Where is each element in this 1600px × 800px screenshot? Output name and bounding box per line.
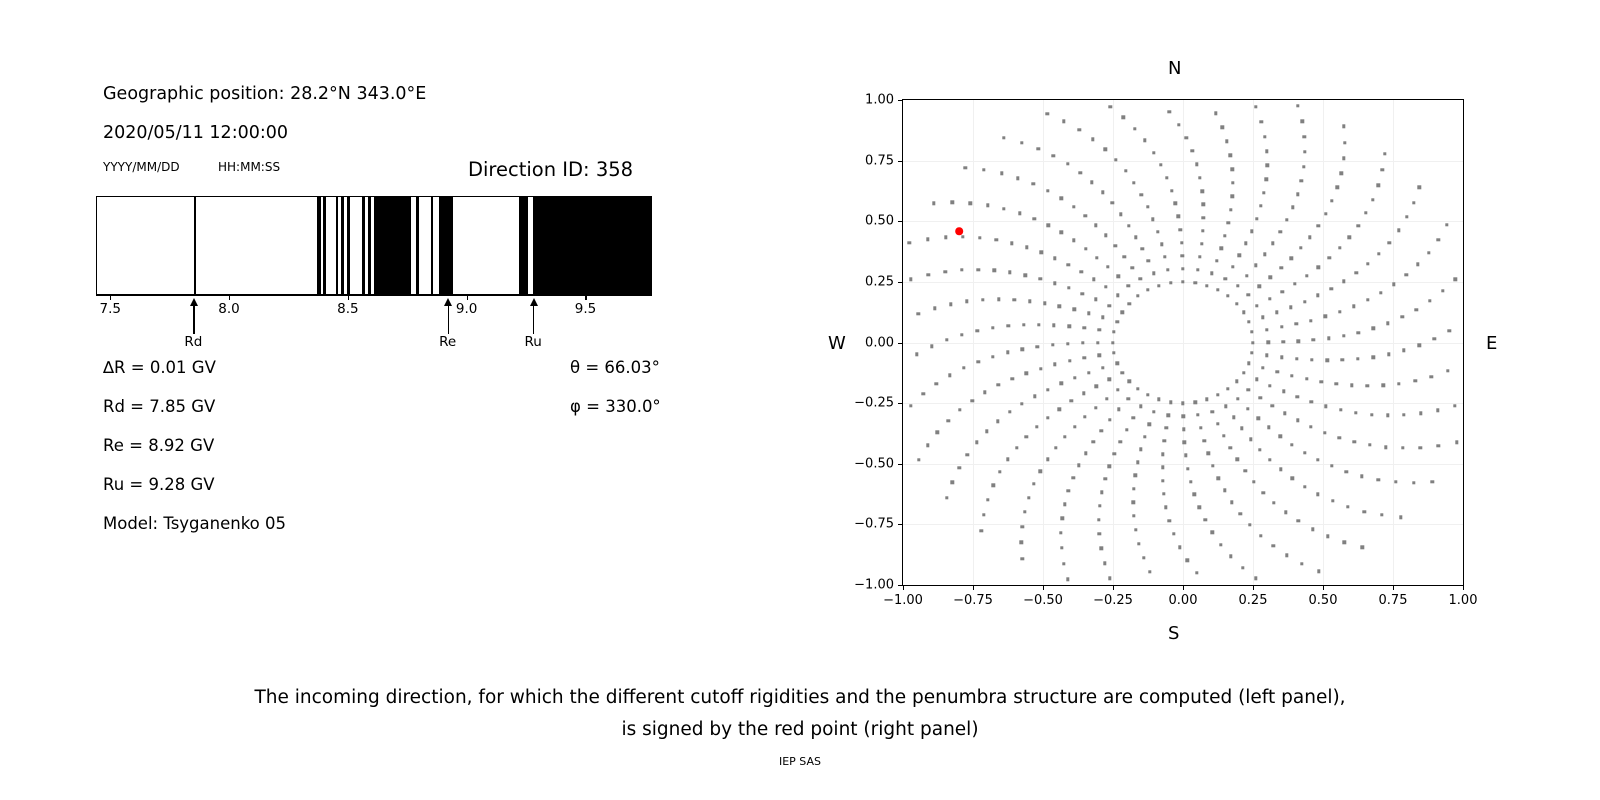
direction-point [1032, 182, 1035, 185]
direction-point [1202, 216, 1205, 219]
direction-point [1211, 464, 1214, 467]
direction-point [1232, 416, 1235, 419]
penumbra-band [341, 197, 344, 294]
direction-point [1285, 553, 1288, 556]
direction-point [1186, 559, 1189, 562]
direction-point [1271, 544, 1274, 547]
direction-point [1302, 165, 1305, 168]
direction-point [1247, 320, 1250, 323]
scatter-x-tick-label: 0.00 [1169, 593, 1198, 608]
direction-point [1137, 542, 1140, 545]
direction-point [1108, 304, 1111, 307]
direction-point [1418, 343, 1421, 346]
direction-point [1290, 443, 1293, 446]
direction-point [1101, 316, 1104, 319]
direction-point [1147, 259, 1150, 262]
direction-point [1068, 359, 1071, 362]
direction-point [1325, 359, 1328, 362]
angle-line: θ = 66.03° [570, 358, 660, 377]
scatter-y-tick [898, 282, 902, 283]
direction-point [1104, 285, 1107, 288]
direction-point [1412, 201, 1415, 204]
direction-point [1116, 362, 1119, 365]
direction-point [1152, 272, 1155, 275]
direction-point [1053, 281, 1056, 284]
scatter-x-tick-label: 0.25 [1239, 593, 1268, 608]
direction-point [1164, 426, 1167, 429]
direction-point [1118, 440, 1121, 443]
direction-point [1254, 263, 1257, 266]
direction-point [1067, 263, 1070, 266]
direction-point [921, 392, 924, 395]
direction-point [1202, 203, 1205, 206]
direction-point [1117, 408, 1120, 411]
direction-point [1317, 569, 1320, 572]
direction-point [1279, 435, 1282, 438]
direction-point [1015, 446, 1018, 449]
direction-point [1446, 369, 1449, 372]
direction-point [1364, 211, 1367, 214]
direction-point [1267, 426, 1270, 429]
direction-point [1221, 126, 1224, 129]
direction-point [1000, 172, 1003, 175]
direction-point [996, 420, 999, 423]
direction-point [1002, 136, 1005, 139]
direction-point [981, 298, 984, 301]
direction-point [1166, 268, 1169, 271]
direction-point [1134, 528, 1137, 531]
direction-point [1146, 288, 1149, 291]
direction-point [1384, 445, 1387, 448]
direction-point [1261, 315, 1264, 318]
direction-point [1116, 388, 1119, 391]
direction-point [1241, 566, 1244, 569]
direction-point [1072, 308, 1075, 311]
direction-point [1078, 128, 1081, 131]
direction-point [1401, 446, 1404, 449]
direction-point [1098, 532, 1101, 535]
direction-point [1021, 347, 1024, 350]
rigidity-tick-label: 9.5 [575, 301, 596, 317]
direction-point [1290, 374, 1293, 377]
direction-point [1025, 372, 1028, 375]
direction-point [1366, 298, 1369, 301]
direction-point [1229, 208, 1232, 211]
direction-point [1063, 503, 1066, 506]
direction-point [1066, 578, 1069, 581]
direction-point [1259, 534, 1262, 537]
scatter-y-tick-label: 0.25 [844, 274, 894, 289]
direction-point [1193, 281, 1196, 284]
direction-point [1204, 518, 1207, 521]
direction-point [1032, 482, 1035, 485]
direction-point [1103, 561, 1106, 564]
direction-point [1128, 380, 1131, 383]
direction-point [1262, 491, 1265, 494]
direction-point [1303, 300, 1306, 303]
direction-point [1067, 325, 1070, 328]
scatter-y-tick [898, 221, 902, 222]
direction-point [1335, 382, 1338, 385]
direction-point [1246, 407, 1249, 410]
rigidity-tick [229, 295, 230, 300]
direction-point [1052, 154, 1055, 157]
direction-point [1058, 304, 1061, 307]
direction-point [1372, 327, 1375, 330]
direction-point [975, 441, 978, 444]
arrow-stem [193, 305, 194, 334]
direction-point [1114, 244, 1117, 247]
scatter-x-tick [973, 586, 974, 590]
direction-point [1320, 380, 1323, 383]
direction-point [1136, 461, 1139, 464]
direction-point [1151, 217, 1154, 220]
direction-point [982, 513, 985, 516]
direction-point [1100, 429, 1103, 432]
direction-point [1071, 476, 1074, 479]
direction-point [1025, 435, 1028, 438]
direction-point [1327, 337, 1330, 340]
rigidity-tick [110, 295, 111, 300]
direction-point [1139, 405, 1142, 408]
direction-point [1060, 197, 1063, 200]
direction-point [932, 202, 935, 205]
geographic-position-text: Geographic position: 28.2°N 343.0°E [103, 84, 426, 104]
direction-point [1084, 247, 1087, 250]
direction-point [1170, 189, 1173, 192]
direction-point [1108, 576, 1111, 579]
direction-point [991, 326, 994, 329]
direction-point [1148, 570, 1151, 573]
direction-point [1247, 362, 1250, 365]
direction-point [1244, 242, 1247, 245]
direction-point [985, 430, 988, 433]
direction-point [986, 204, 989, 207]
direction-point [1164, 506, 1167, 509]
direction-point [977, 268, 980, 271]
direction-point [1047, 224, 1050, 227]
direction-point [1127, 224, 1130, 227]
direction-point [1217, 477, 1220, 480]
direction-point [1243, 469, 1246, 472]
direction-point [1110, 201, 1113, 204]
direction-point [1342, 334, 1345, 337]
direction-point [1136, 294, 1139, 297]
direction-point [1381, 383, 1384, 386]
direction-point [1169, 281, 1172, 284]
direction-point [1268, 458, 1271, 461]
direction-point [1291, 206, 1294, 209]
direction-point [1010, 241, 1013, 244]
credit-label: IEP SAS [0, 755, 1600, 768]
direction-point [1330, 287, 1333, 290]
scatter-plot-area [902, 99, 1464, 586]
direction-point [1060, 546, 1063, 549]
direction-point [1036, 147, 1039, 150]
direction-point [1226, 387, 1229, 390]
direction-point [1060, 382, 1063, 385]
direction-point [1297, 340, 1300, 343]
direction-point [947, 419, 950, 422]
direction-point [1108, 378, 1111, 381]
direction-point [944, 270, 947, 273]
selected-direction-point[interactable] [955, 227, 963, 235]
scatter-y-tick-label: −0.75 [844, 517, 894, 532]
direction-point [1379, 291, 1382, 294]
direction-point [1020, 557, 1023, 560]
direction-point [1356, 357, 1359, 360]
direction-point [1248, 523, 1251, 526]
direction-point [1189, 480, 1192, 483]
direction-point [1293, 282, 1296, 285]
direction-point [1124, 169, 1127, 172]
direction-point [1346, 505, 1349, 508]
direction-point [1195, 163, 1198, 166]
direction-point [1073, 376, 1076, 379]
direction-point [1132, 487, 1135, 490]
direction-point [1235, 302, 1238, 305]
direction-point [945, 496, 948, 499]
direction-point [1271, 404, 1274, 407]
direction-point [1380, 513, 1383, 516]
direction-point [965, 300, 968, 303]
direction-point [1136, 387, 1139, 390]
direction-point [1025, 246, 1028, 249]
direction-point [1264, 178, 1267, 181]
direction-point [1345, 470, 1348, 473]
direction-point [1265, 328, 1268, 331]
direction-point [1094, 298, 1097, 301]
direction-point [1296, 395, 1299, 398]
direction-point [1269, 276, 1272, 279]
direction-point [1094, 224, 1097, 227]
direction-point [1254, 105, 1257, 108]
direction-point [1339, 408, 1342, 411]
compass-north-label: N [1168, 58, 1181, 79]
direction-point [1018, 212, 1021, 215]
direction-point [1023, 510, 1026, 513]
direction-point [1033, 395, 1036, 398]
direction-point [1006, 458, 1009, 461]
direction-point [1146, 393, 1149, 396]
direction-point [964, 166, 967, 169]
direction-point [1405, 215, 1408, 218]
direction-point [994, 238, 997, 241]
scatter-x-tick-label: −1.00 [883, 593, 923, 608]
direction-point [1059, 531, 1062, 534]
direction-point [1309, 319, 1312, 322]
parameter-line: ∆R = 0.01 GV [103, 358, 216, 377]
direction-point [1305, 274, 1308, 277]
direction-point [1090, 181, 1093, 184]
direction-point [1303, 135, 1306, 138]
scatter-y-tick-label: −0.50 [844, 456, 894, 471]
direction-point [1169, 401, 1172, 404]
direction-point [1303, 485, 1306, 488]
direction-point [1159, 163, 1162, 166]
direction-point [1095, 256, 1098, 259]
direction-point [1168, 519, 1171, 522]
direction-point [1081, 292, 1084, 295]
parameter-line: Ru = 9.28 GV [103, 475, 215, 494]
direction-point [1310, 358, 1313, 361]
direction-point [998, 470, 1001, 473]
direction-point [1357, 331, 1360, 334]
direction-point [1200, 242, 1203, 245]
direction-point [1062, 120, 1065, 123]
direction-point [1342, 279, 1345, 282]
direction-point [1067, 489, 1070, 492]
direction-point [936, 431, 939, 434]
direction-point [1152, 151, 1155, 154]
direction-point [1445, 223, 1448, 226]
direction-point [1053, 257, 1056, 260]
direction-point [1227, 221, 1230, 224]
direction-point [1386, 322, 1389, 325]
direction-point [1223, 234, 1226, 237]
direction-point [1058, 407, 1061, 410]
scatter-x-tick-label: 0.50 [1309, 593, 1338, 608]
direction-point [1108, 465, 1111, 468]
direction-point [949, 303, 952, 306]
direction-point [1366, 384, 1369, 387]
direction-point [1198, 176, 1201, 179]
direction-point [1236, 284, 1239, 287]
direction-point [1133, 127, 1136, 130]
penumbra-band [431, 197, 434, 294]
penumbra-bar [96, 196, 652, 295]
direction-point [993, 269, 996, 272]
direction-point [1258, 396, 1261, 399]
direction-point [1193, 493, 1196, 496]
direction-point [1348, 235, 1351, 238]
direction-point [1254, 576, 1257, 579]
direction-point [1296, 419, 1299, 422]
scatter-y-tick-label: 0.50 [844, 214, 894, 229]
penumbra-band [347, 197, 350, 294]
direction-point [1252, 480, 1255, 483]
direction-point [1181, 267, 1184, 270]
direction-point [908, 241, 911, 244]
scatter-x-tick [1393, 586, 1394, 590]
direction-point [1338, 436, 1341, 439]
compass-south-label: S [1168, 623, 1179, 644]
rigidity-axis-line [96, 295, 652, 296]
direction-point [944, 236, 947, 239]
direction-point [1139, 448, 1142, 451]
direction-point [1330, 199, 1333, 202]
direction-point [1043, 302, 1046, 305]
direction-point [1428, 299, 1431, 302]
direction-point [1265, 354, 1268, 357]
direction-point [1096, 341, 1099, 344]
direction-point [1087, 312, 1090, 315]
direction-point [962, 366, 965, 369]
scatter-y-tick [898, 403, 902, 404]
direction-point [1046, 189, 1049, 192]
direction-point [1161, 479, 1164, 482]
direction-point [1280, 325, 1283, 328]
direction-point [1312, 338, 1315, 341]
direction-point [1143, 435, 1146, 438]
direction-point [1263, 253, 1266, 256]
direction-point [1386, 414, 1389, 417]
direction-point [1324, 212, 1327, 215]
direction-point [1324, 315, 1327, 318]
direction-point [1216, 422, 1219, 425]
direction-point [1355, 271, 1358, 274]
direction-point [1082, 392, 1085, 395]
direction-point [1077, 464, 1080, 467]
direction-point [1282, 390, 1285, 393]
gridline-horizontal [903, 464, 1463, 465]
direction-point [1219, 543, 1222, 546]
direction-point [1161, 452, 1164, 455]
scatter-x-tick-label: −0.50 [1023, 593, 1063, 608]
scatter-x-tick-label: −0.25 [1093, 593, 1133, 608]
direction-point [1162, 492, 1165, 495]
direction-point [1104, 477, 1107, 480]
direction-point [1255, 217, 1258, 220]
penumbra-band [439, 197, 453, 294]
direction-point [1116, 293, 1119, 296]
direction-point [1073, 425, 1076, 428]
direction-point [1331, 499, 1334, 502]
direction-point [1070, 399, 1073, 402]
direction-point [978, 236, 981, 239]
direction-point [1131, 266, 1134, 269]
direction-point [1022, 323, 1025, 326]
direction-point [1295, 357, 1298, 360]
scatter-y-tick-label: −0.25 [844, 396, 894, 411]
direction-point [1436, 409, 1439, 412]
direction-point [1370, 413, 1373, 416]
direction-point [1316, 294, 1319, 297]
scatter-x-tick [1043, 586, 1044, 590]
direction-point [1200, 189, 1203, 192]
penumbra-panel: Geographic position: 28.2°N 343.0°E 2020… [0, 0, 790, 660]
direction-point [1184, 136, 1187, 139]
direction-point [1008, 410, 1011, 413]
direction-point [1225, 140, 1228, 143]
direction-point [1094, 406, 1097, 409]
direction-point [1174, 202, 1177, 205]
direction-point [1280, 355, 1283, 358]
direction-point [1036, 345, 1039, 348]
direction-point [1008, 271, 1011, 274]
direction-point [1231, 195, 1234, 198]
scatter-x-tick [1183, 586, 1184, 590]
direction-point [1167, 413, 1170, 416]
direction-map-panel: N S W E −1.00−0.75−0.50−0.250.000.250.50… [790, 0, 1600, 660]
direction-point [1356, 224, 1359, 227]
direction-point [1404, 273, 1407, 276]
scatter-x-tick [1463, 586, 1464, 590]
direction-point [1296, 104, 1299, 107]
direction-point [1179, 228, 1182, 231]
direction-point [1230, 167, 1233, 170]
direction-point [1377, 184, 1380, 187]
direction-point [1101, 191, 1104, 194]
direction-point [1060, 517, 1063, 520]
direction-point [1207, 452, 1210, 455]
direction-point [1249, 437, 1252, 440]
direction-point [1338, 310, 1341, 313]
direction-point [1161, 466, 1164, 469]
direction-point [930, 345, 933, 348]
direction-point [1330, 464, 1333, 467]
direction-point [1377, 478, 1380, 481]
